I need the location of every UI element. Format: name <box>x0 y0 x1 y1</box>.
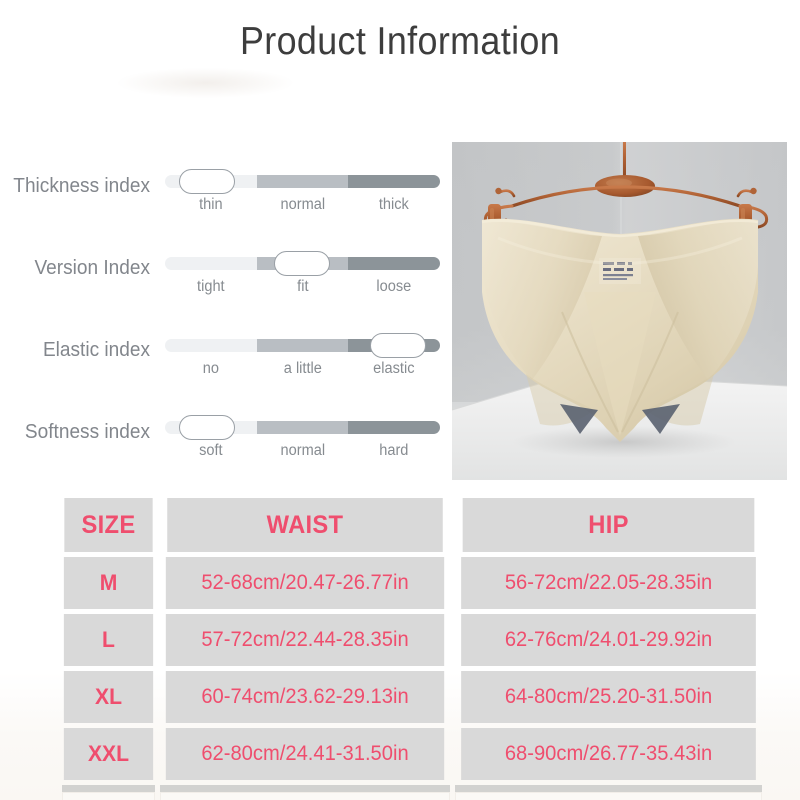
cell-hip: 62-76cm/24.01-29.92in <box>461 614 756 666</box>
index-label-version: Version Index <box>11 256 151 280</box>
tick-label: loose <box>351 278 437 296</box>
cell-waist: 62-80cm/24.41-31.50in <box>166 728 444 780</box>
table-row: M 52-68cm/20.47-26.77in 56-72cm/22.05-28… <box>62 557 762 609</box>
slider-tick-labels: soft normal hard <box>165 442 440 460</box>
track-segment-1 <box>165 339 257 352</box>
slider-thickness[interactable]: thin normal thick <box>165 168 440 220</box>
tick-label: normal <box>259 442 345 460</box>
tick-label: tight <box>168 278 254 296</box>
clipped-cell-waist-body <box>160 792 450 800</box>
column-header-waist: WAIST <box>167 498 443 552</box>
table-row: L 57-72cm/22.44-28.35in 62-76cm/24.01-29… <box>62 614 762 666</box>
index-label-softness: Softness index <box>11 420 151 444</box>
tick-label: fit <box>259 278 345 296</box>
product-information-page: Product Information Thickness index thin… <box>0 0 800 800</box>
cell-size: M <box>64 557 153 609</box>
table-row-clipped-band <box>62 785 762 792</box>
slider-tick-labels: thin normal thick <box>165 196 440 214</box>
track-segment-3 <box>348 421 440 434</box>
page-title: Product Information <box>32 20 768 64</box>
cell-size: L <box>64 614 153 666</box>
cell-waist: 60-74cm/23.62-29.13in <box>166 671 444 723</box>
slider-elastic[interactable]: no a little elastic <box>165 332 440 384</box>
background-smudge <box>118 68 293 98</box>
track-segment-3 <box>348 257 440 270</box>
slider-thumb[interactable] <box>179 415 235 440</box>
table-row-clipped <box>62 792 762 800</box>
clipped-cell-hip <box>455 785 762 792</box>
index-row-elastic: Elastic index no a little elastic <box>0 332 452 414</box>
track-segment-2 <box>257 421 349 434</box>
cell-waist: 57-72cm/22.44-28.35in <box>166 614 444 666</box>
table-row: XXL 62-80cm/24.41-31.50in 68-90cm/26.77-… <box>62 728 762 780</box>
index-slider-group: Thickness index thin normal thick Versio… <box>0 168 452 496</box>
table-header-row: SIZE WAIST HIP <box>62 498 762 552</box>
cell-size: XL <box>64 671 153 723</box>
cell-size: XXL <box>64 728 153 780</box>
clipped-cell-size <box>62 785 155 792</box>
slider-tick-labels: tight fit loose <box>165 278 440 296</box>
slider-thumb[interactable] <box>179 169 235 194</box>
cell-hip: 68-90cm/26.77-35.43in <box>461 728 756 780</box>
clipped-cell-size-body <box>62 792 155 800</box>
index-row-thickness: Thickness index thin normal thick <box>0 168 452 250</box>
size-chart-table: SIZE WAIST HIP M 52-68cm/20.47-26.77in 5… <box>62 498 762 800</box>
column-header-size: SIZE <box>64 498 152 552</box>
slider-version[interactable]: tight fit loose <box>165 250 440 302</box>
cell-waist: 52-68cm/20.47-26.77in <box>166 557 444 609</box>
tick-label: thick <box>351 196 437 214</box>
tick-label: normal <box>259 196 345 214</box>
tick-label: no <box>168 360 254 378</box>
index-label-elastic: Elastic index <box>11 338 151 362</box>
tick-label: thin <box>168 196 254 214</box>
cell-hip: 56-72cm/22.05-28.35in <box>461 557 756 609</box>
slider-thumb[interactable] <box>370 333 426 358</box>
clipped-cell-waist <box>160 785 450 792</box>
index-row-version: Version Index tight fit loose <box>0 250 452 332</box>
slider-thumb[interactable] <box>274 251 330 276</box>
tick-label: elastic <box>351 360 437 378</box>
index-label-thickness: Thickness index <box>11 174 151 198</box>
product-photo <box>452 142 787 480</box>
tick-label: soft <box>168 442 254 460</box>
tick-label: a little <box>259 360 345 378</box>
track-segment-3 <box>348 175 440 188</box>
table-row: XL 60-74cm/23.62-29.13in 64-80cm/25.20-3… <box>62 671 762 723</box>
slider-tick-labels: no a little elastic <box>165 360 440 378</box>
track-segment-2 <box>257 339 349 352</box>
cell-hip: 64-80cm/25.20-31.50in <box>461 671 756 723</box>
clipped-cell-hip-body <box>455 792 762 800</box>
index-row-softness: Softness index soft normal hard <box>0 414 452 496</box>
tick-label: hard <box>351 442 437 460</box>
column-header-hip: HIP <box>463 498 755 552</box>
track-segment-1 <box>165 257 257 270</box>
slider-softness[interactable]: soft normal hard <box>165 414 440 466</box>
track-segment-2 <box>257 175 349 188</box>
